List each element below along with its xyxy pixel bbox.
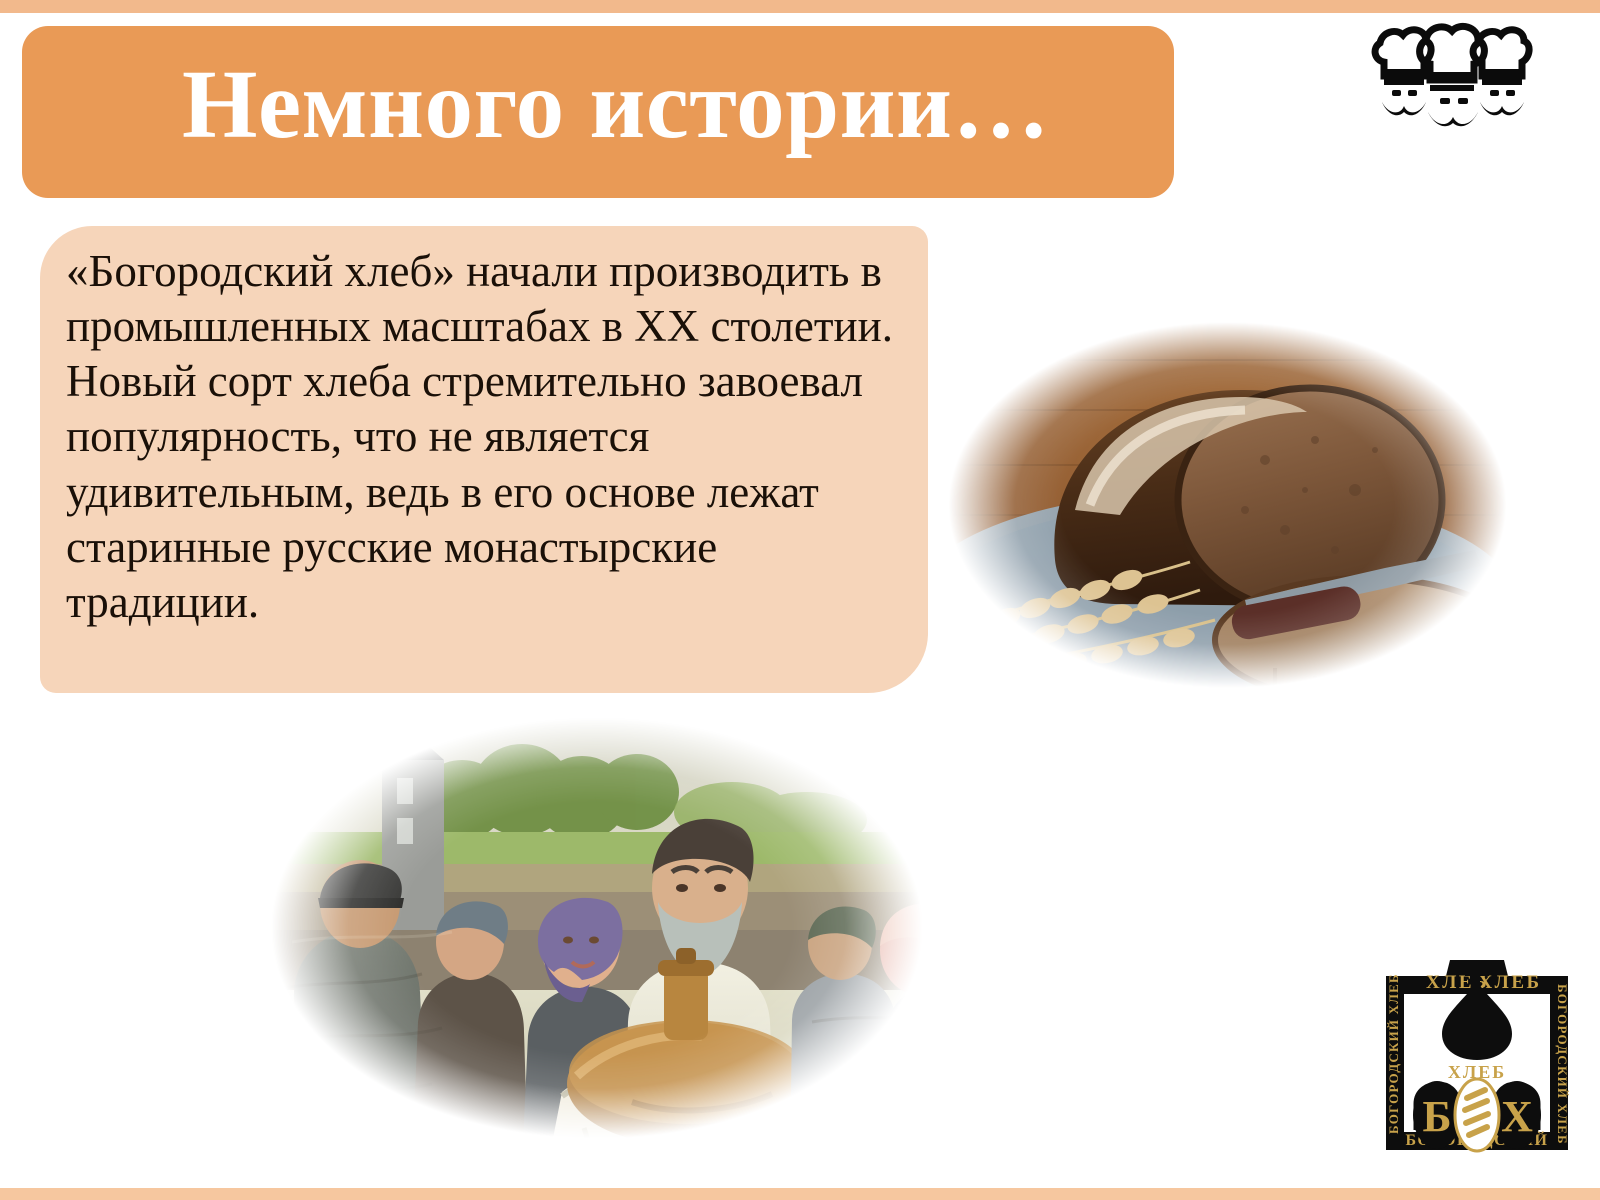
- page-title: Немного истории…: [182, 56, 1050, 153]
- chef-hats-icon: [1368, 18, 1540, 128]
- bread-photo: [915, 300, 1540, 710]
- decorative-top-band: [0, 0, 1600, 13]
- decorative-bottom-band: [0, 1188, 1600, 1200]
- presentation-slide: Немного истории…: [0, 0, 1600, 1200]
- svg-text:Б: Б: [1422, 1092, 1451, 1141]
- bogorodsky-hleb-logo: ХЛЕБ ХЛЕБ БОГОРОДСКИЙ БОГОРОДСКИЙ ХЛЕБ Б…: [1368, 938, 1586, 1163]
- svg-text:Х: Х: [1501, 1092, 1533, 1141]
- painting-photo: [232, 692, 962, 1164]
- svg-text:БОГОРОДСКИЙ ХЛЕБ: БОГОРОДСКИЙ ХЛЕБ: [1386, 973, 1401, 1134]
- svg-text:БОГОРОДСКИЙ ХЛЕБ: БОГОРОДСКИЙ ХЛЕБ: [1555, 984, 1570, 1145]
- body-paragraph: «Богородский хлеб» начали производить в …: [66, 244, 906, 630]
- slide-title-bar: Немного истории…: [22, 26, 1174, 198]
- body-text-panel: «Богородский хлеб» начали производить в …: [40, 226, 928, 693]
